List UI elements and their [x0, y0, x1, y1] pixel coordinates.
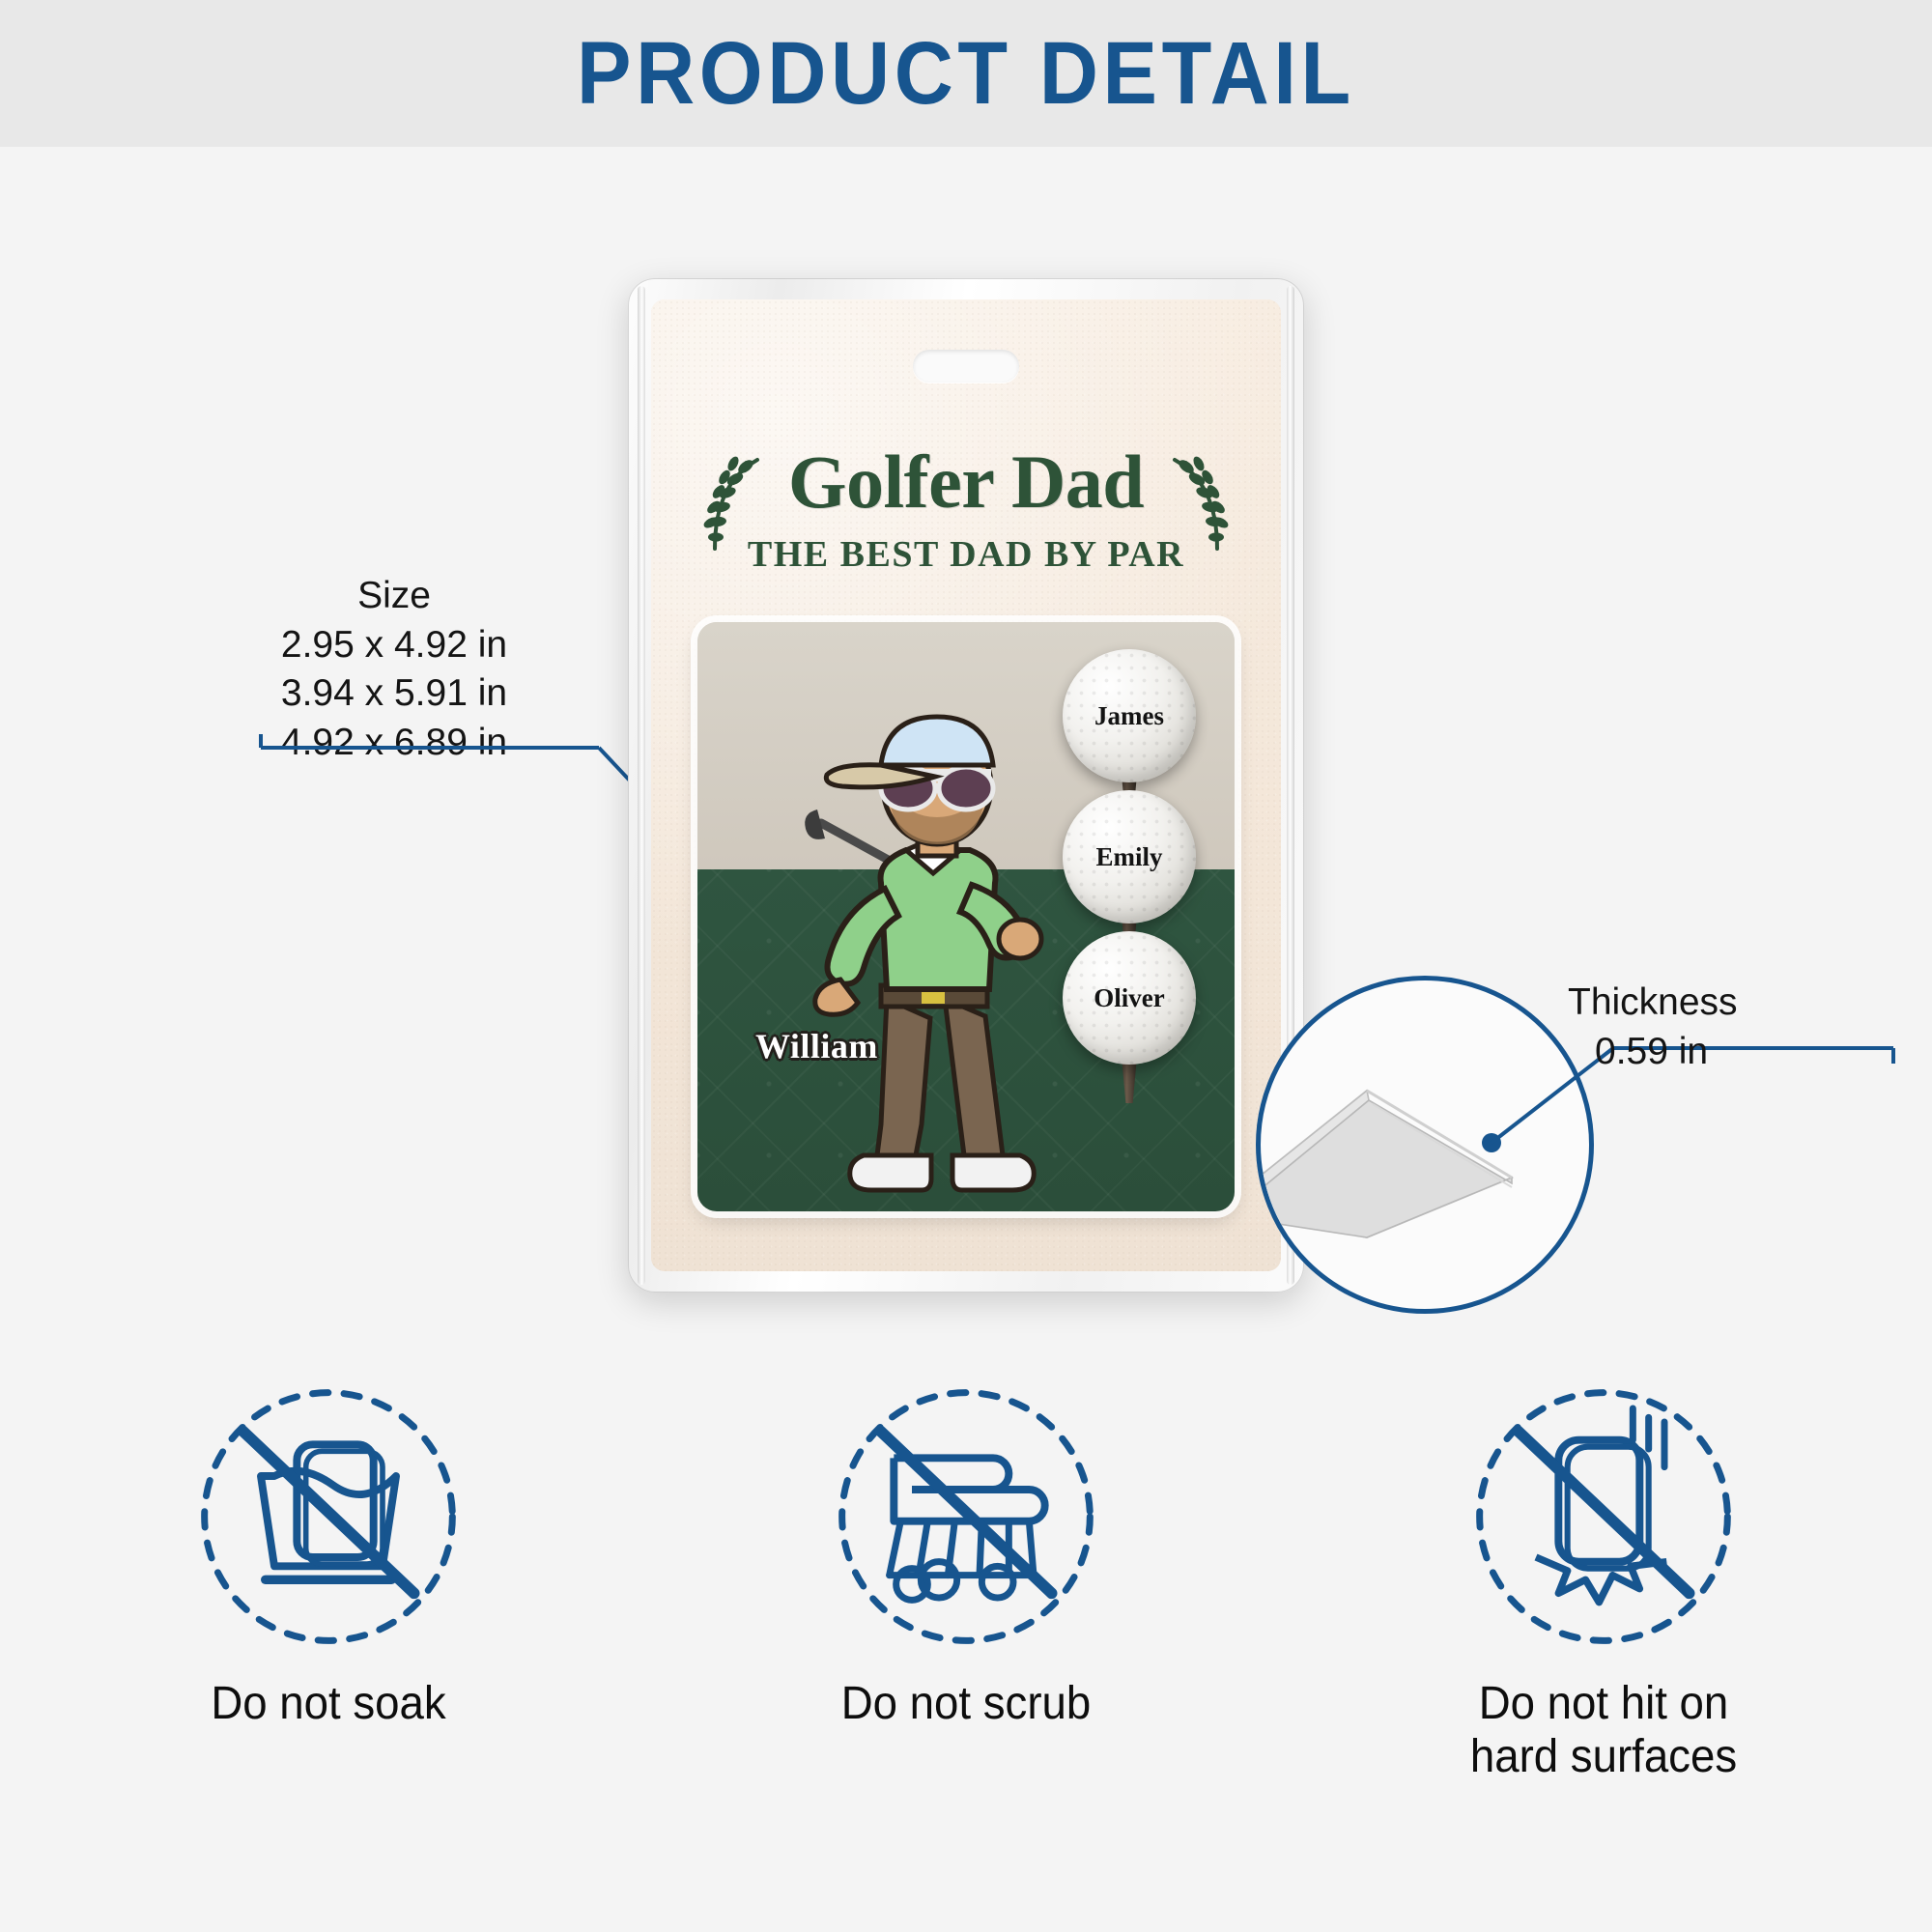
product-photo-panel: William James Emily	[697, 622, 1235, 1211]
golfer-figure	[781, 709, 1099, 1211]
dad-name-label: William	[755, 1026, 878, 1066]
care-item-no-impact: Do not hit onhard surfaces	[1333, 1381, 1874, 1783]
laurel-right-icon	[1163, 452, 1231, 558]
golf-ball-icon: James	[1063, 649, 1196, 782]
title-lockup: Golfer Dad THE BEST DAD BY PAR	[651, 444, 1281, 576]
page-title: PRODUCT DETAIL	[577, 23, 1355, 125]
no-impact-icon	[1468, 1381, 1739, 1652]
plaque-face: Golfer Dad THE BEST DAD BY PAR	[651, 299, 1281, 1271]
size-dimension-2: 3.94 x 5.91 in	[259, 669, 529, 719]
no-scrub-icon	[831, 1381, 1101, 1652]
golf-ball-name: James	[1094, 701, 1164, 731]
care-item-no-scrub: Do not scrub	[696, 1381, 1236, 1731]
care-label: Do not soak	[71, 1678, 585, 1731]
hang-hole	[913, 350, 1019, 383]
no-soak-icon	[193, 1381, 464, 1652]
golf-ball-group: James Emily Oliver	[1057, 649, 1202, 1074]
care-label: Do not hit onhard surfaces	[1347, 1678, 1861, 1783]
golf-ball-item: Emily	[1057, 790, 1202, 935]
golf-ball-icon: Emily	[1063, 790, 1196, 923]
golf-ball-item: Oliver	[1057, 931, 1202, 1076]
plaque-left-edge	[638, 286, 645, 1285]
size-label: Size	[259, 572, 529, 621]
product-detail-page: PRODUCT DETAIL Size 2.95 x 4.92 in 3.94 …	[0, 0, 1932, 1932]
page-header: PRODUCT DETAIL	[0, 0, 1932, 147]
care-instructions-row: Do not soak Do not scrub	[0, 1381, 1932, 1884]
thickness-callout: Thickness 0.59 in	[1568, 978, 1887, 1077]
golf-ball-item: James	[1057, 649, 1202, 794]
size-dimension-1: 2.95 x 4.92 in	[259, 621, 529, 670]
golf-ball-name: Oliver	[1094, 983, 1164, 1013]
thickness-label: Thickness	[1568, 978, 1887, 1027]
care-label: Do not scrub	[709, 1678, 1223, 1731]
golf-ball-icon: Oliver	[1063, 931, 1196, 1065]
product-plaque: Golfer Dad THE BEST DAD BY PAR	[628, 278, 1304, 1293]
laurel-left-icon	[701, 452, 769, 558]
golf-ball-name: Emily	[1095, 842, 1162, 872]
thickness-value: 0.59 in	[1568, 1027, 1887, 1076]
care-item-no-soak: Do not soak	[58, 1381, 599, 1731]
